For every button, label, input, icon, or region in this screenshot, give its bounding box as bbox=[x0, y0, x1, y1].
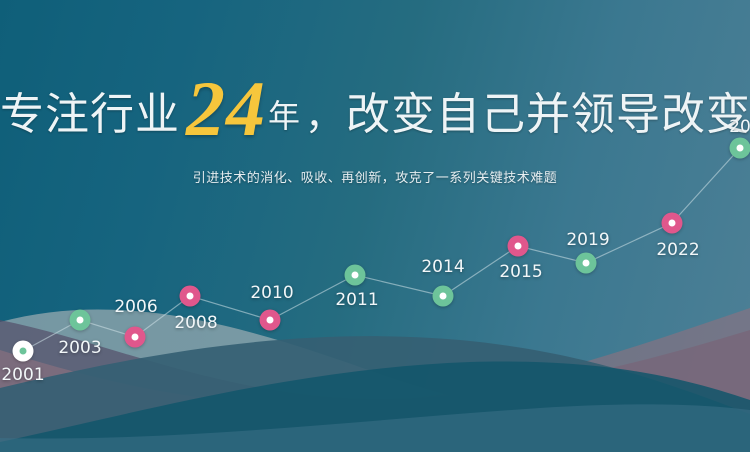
timeline-node-2003[interactable] bbox=[70, 310, 91, 331]
timeline-year-label-2006: 2006 bbox=[114, 297, 157, 317]
timeline-year-label-2011: 2011 bbox=[335, 290, 378, 310]
timeline-connector-lines bbox=[0, 0, 750, 452]
timeline-year-label-2003: 2003 bbox=[58, 338, 101, 358]
timeline-year-label-2015: 2015 bbox=[499, 262, 542, 282]
timeline-node-2019[interactable] bbox=[576, 253, 597, 274]
timeline-node-2008[interactable] bbox=[180, 286, 201, 307]
timeline-year-label-2008: 2008 bbox=[174, 313, 217, 333]
timeline-node-2015[interactable] bbox=[508, 236, 529, 257]
timeline-year-label-20: 20 bbox=[729, 117, 750, 137]
timeline-year-label-2010: 2010 bbox=[250, 283, 293, 303]
timeline-node-2001[interactable] bbox=[13, 341, 34, 362]
milestone-timeline: 2001200320062008201020112014201520192022… bbox=[0, 0, 750, 452]
timeline-node-2022[interactable] bbox=[662, 213, 683, 234]
timeline-node-20[interactable] bbox=[730, 138, 750, 159]
timeline-year-label-2019: 2019 bbox=[566, 230, 609, 250]
timeline-year-label-2001: 2001 bbox=[1, 365, 44, 385]
timeline-node-2006[interactable] bbox=[125, 327, 146, 348]
timeline-node-2014[interactable] bbox=[433, 286, 454, 307]
timeline-node-2010[interactable] bbox=[260, 310, 281, 331]
timeline-node-2011[interactable] bbox=[345, 265, 366, 286]
timeline-year-label-2022: 2022 bbox=[656, 240, 699, 260]
timeline-banner: 专注行业24年，改变自己并领导改变 引进技术的消化、吸收、再创新，攻克了一系列关… bbox=[0, 0, 750, 452]
timeline-year-label-2014: 2014 bbox=[421, 257, 464, 277]
